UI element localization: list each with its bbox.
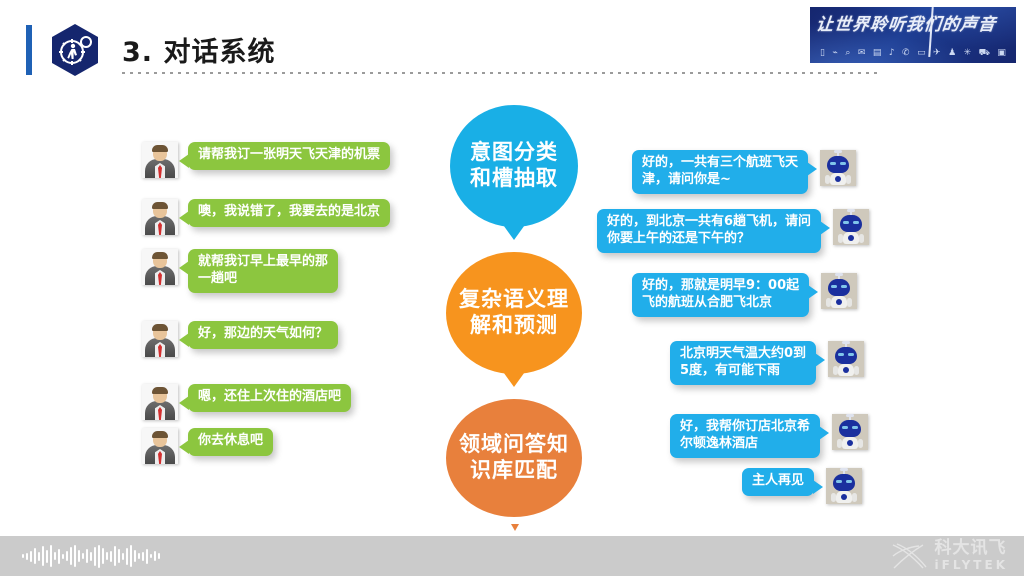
settings-icon: ✳ <box>964 48 972 58</box>
mail-icon: ✉ <box>858 48 866 58</box>
list-item: 嗯，还住上次住的酒店吧 <box>142 384 351 420</box>
bot-message-bubble[interactable]: 主人再见 <box>742 468 814 496</box>
banner-slogan-text: 让世界聆听我们的声音 <box>814 9 1013 41</box>
pipeline-node-tail <box>501 369 527 387</box>
brand-name-en: iFLYTEK <box>935 559 1008 571</box>
header-accent-bar <box>26 25 32 75</box>
hexagon-gear-person-icon <box>46 21 104 79</box>
cart-icon: ⛟ <box>979 48 990 58</box>
pipeline-node-intent[interactable]: 意图分类 和槽抽取 <box>450 105 578 227</box>
robot-avatar <box>821 273 857 309</box>
brand-name-cn: 科大讯飞 <box>935 540 1008 557</box>
bot-message-bubble[interactable]: 好的，到北京一共有6趟飞机，请问 你要上午的还是下午的？ <box>597 209 821 253</box>
list-item: 你去休息吧 <box>142 428 273 464</box>
book-icon: ▣ <box>997 48 1006 58</box>
slide-canvas: 3. 对话系统 让世界聆听我们的声音 ▯ ⌁ ⌕ ✉ ▤ ♪ ✆ ▭ ✈ ♟ ✳… <box>0 0 1024 576</box>
list-item: 好的，到北京一共有6趟飞机，请问 你要上午的还是下午的？ <box>597 209 869 253</box>
plane-icon: ✈ <box>933 48 941 58</box>
list-item: 就帮我订早上最早的那 一趟吧 <box>142 249 338 293</box>
list-item: 好，那边的天气如何？ <box>142 321 338 357</box>
bot-message-bubble[interactable]: 好，我帮你订店北京希 尔顿逸林酒店 <box>670 414 820 458</box>
header-divider <box>122 72 882 74</box>
list-item: 好，我帮你订店北京希 尔顿逸林酒店 <box>670 414 868 458</box>
list-item: 好的，那就是明早9：00起 飞的航班从合肥飞北京 <box>632 273 857 317</box>
user-avatar <box>142 321 178 357</box>
mic-icon: ♟ <box>948 48 956 58</box>
slide-footer: 科大讯飞 iFLYTEK <box>0 536 1024 576</box>
iflytek-logo: 科大讯飞 iFLYTEK <box>889 540 1008 571</box>
list-item: 主人再见 <box>742 468 862 504</box>
bot-message-bubble[interactable]: 北京明天气温大约0到 5度，有可能下雨 <box>670 341 816 385</box>
call-icon: ✆ <box>902 48 910 58</box>
phone-icon: ▯ <box>820 48 825 58</box>
user-message-bubble[interactable]: 请帮我订一张明天飞天津的机票 <box>188 142 390 170</box>
user-avatar <box>142 142 178 178</box>
slogan-banner: 让世界聆听我们的声音 ▯ ⌁ ⌕ ✉ ▤ ♪ ✆ ▭ ✈ ♟ ✳ ⛟ ▣ <box>810 7 1016 63</box>
pipeline-node-kb[interactable]: 领域问答知 识库匹配 <box>446 399 582 517</box>
audio-waveform-icon <box>22 544 160 568</box>
pipeline-node-tail <box>501 222 527 240</box>
user-message-bubble[interactable]: 就帮我订早上最早的那 一趟吧 <box>188 249 338 293</box>
bot-message-bubble[interactable]: 好的，一共有三个航班飞天 津，请问你是~ <box>632 150 808 194</box>
list-item: 请帮我订一张明天飞天津的机票 <box>142 142 390 178</box>
list-item: 好的，一共有三个航班飞天 津，请问你是~ <box>632 150 856 194</box>
banner-icon-row: ▯ ⌁ ⌕ ✉ ▤ ♪ ✆ ▭ ✈ ♟ ✳ ⛟ ▣ <box>820 48 1006 58</box>
user-avatar <box>142 199 178 235</box>
page-title: 3. 对话系统 <box>122 30 275 69</box>
pipeline-node-semantics[interactable]: 复杂语义理 解和预测 <box>446 252 582 374</box>
chat-icon: ▭ <box>917 48 926 58</box>
user-avatar <box>142 249 178 285</box>
list-item: 北京明天气温大约0到 5度，有可能下雨 <box>670 341 864 385</box>
slide-accent-marker <box>511 524 519 531</box>
user-message-bubble[interactable]: 好，那边的天气如何？ <box>188 321 338 349</box>
robot-avatar <box>833 209 869 245</box>
user-avatar <box>142 428 178 464</box>
bot-message-bubble[interactable]: 好的，那就是明早9：00起 飞的航班从合肥飞北京 <box>632 273 809 317</box>
robot-avatar <box>832 414 868 450</box>
user-message-bubble[interactable]: 噢，我说错了，我要去的是北京 <box>188 199 390 227</box>
robot-avatar <box>826 468 862 504</box>
user-message-bubble[interactable]: 你去休息吧 <box>188 428 273 456</box>
calendar-icon: ▤ <box>873 48 882 58</box>
antenna-icon: ⌁ <box>832 48 837 58</box>
robot-avatar <box>820 150 856 186</box>
user-avatar <box>142 384 178 420</box>
music-icon: ♪ <box>889 48 895 58</box>
robot-avatar <box>828 341 864 377</box>
list-item: 噢，我说错了，我要去的是北京 <box>142 199 390 235</box>
search-icon: ⌕ <box>845 48 850 58</box>
user-message-bubble[interactable]: 嗯，还住上次住的酒店吧 <box>188 384 351 412</box>
iflytek-logo-icon <box>889 541 929 571</box>
